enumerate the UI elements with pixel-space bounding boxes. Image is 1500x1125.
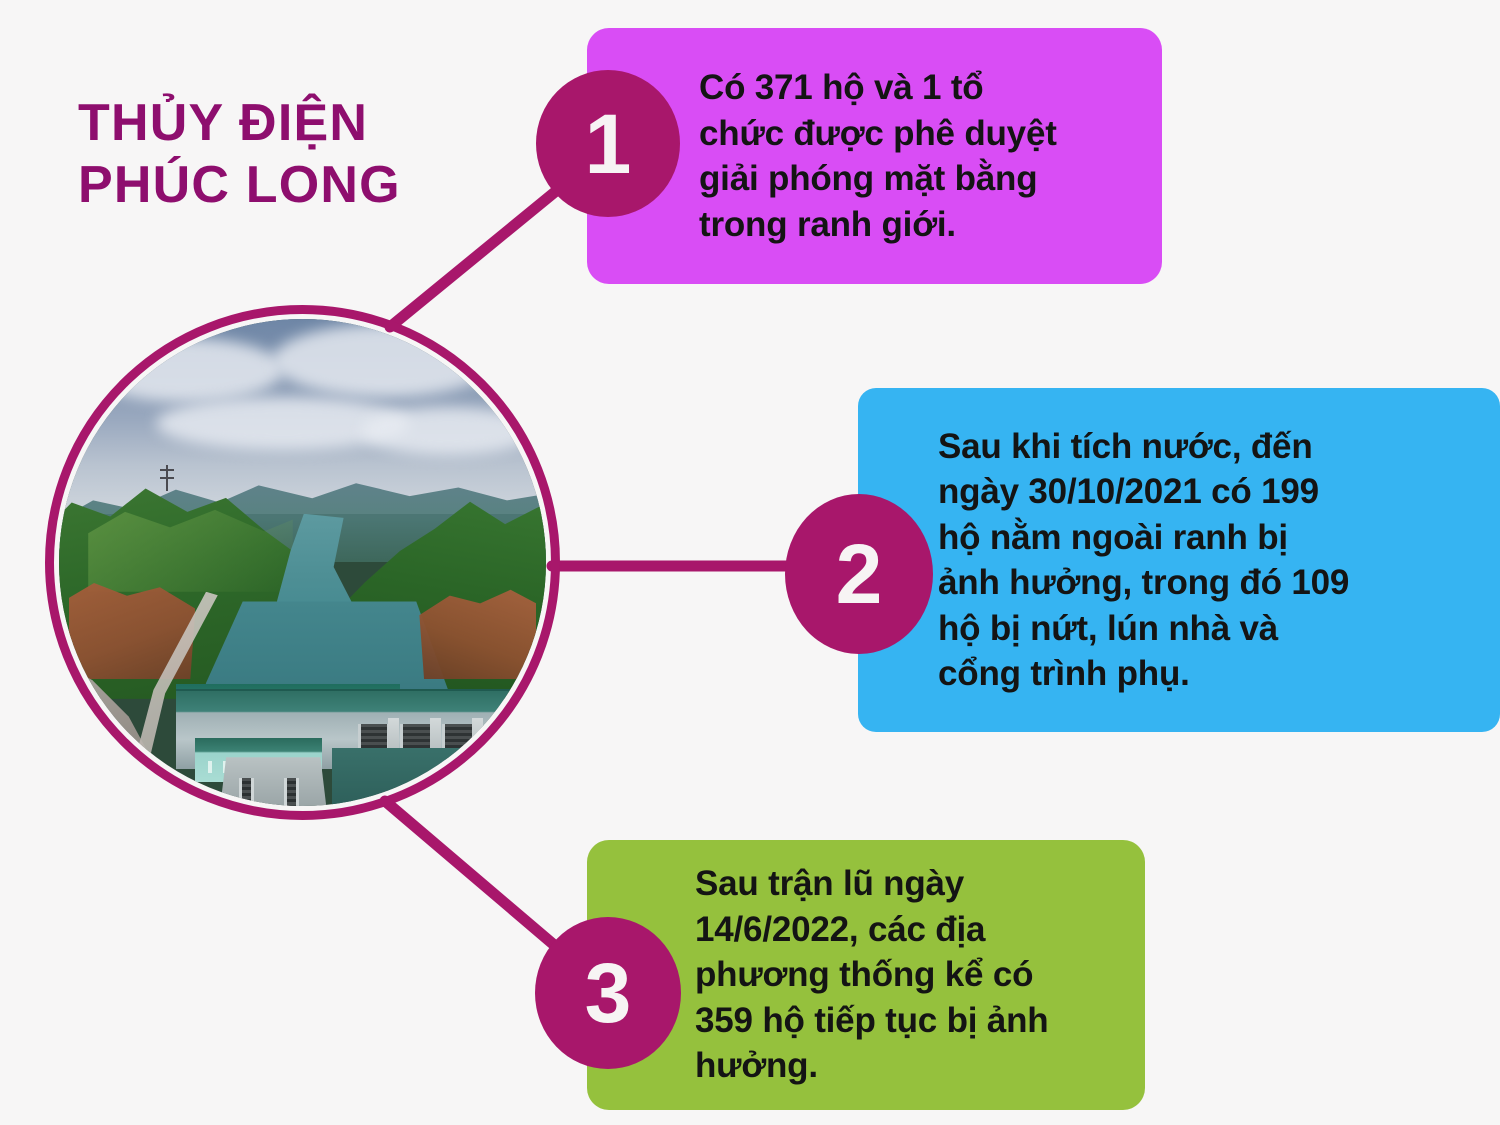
dam-photo bbox=[45, 305, 560, 820]
callout-text-2: Sau khi tích nước, đến ngày 30/10/2021 c… bbox=[938, 424, 1349, 697]
callout-text-1: Có 371 hộ và 1 tổ chức được phê duyệt gi… bbox=[699, 65, 1057, 247]
photo-ring-border bbox=[45, 305, 560, 820]
callout-text-3: Sau trận lũ ngày 14/6/2022, các địa phươ… bbox=[695, 861, 1048, 1089]
step-number-badge-1: 1 bbox=[536, 70, 680, 217]
connector-photo-to-item-3 bbox=[385, 801, 560, 950]
callout-box-2: Sau khi tích nước, đến ngày 30/10/2021 c… bbox=[858, 388, 1500, 732]
infographic-canvas: THỦY ĐIỆN PHÚC LONG bbox=[0, 0, 1500, 1125]
page-title: THỦY ĐIỆN PHÚC LONG bbox=[78, 92, 401, 217]
step-number-badge-3: 3 bbox=[535, 917, 681, 1069]
step-number-badge-2: 2 bbox=[785, 494, 933, 654]
